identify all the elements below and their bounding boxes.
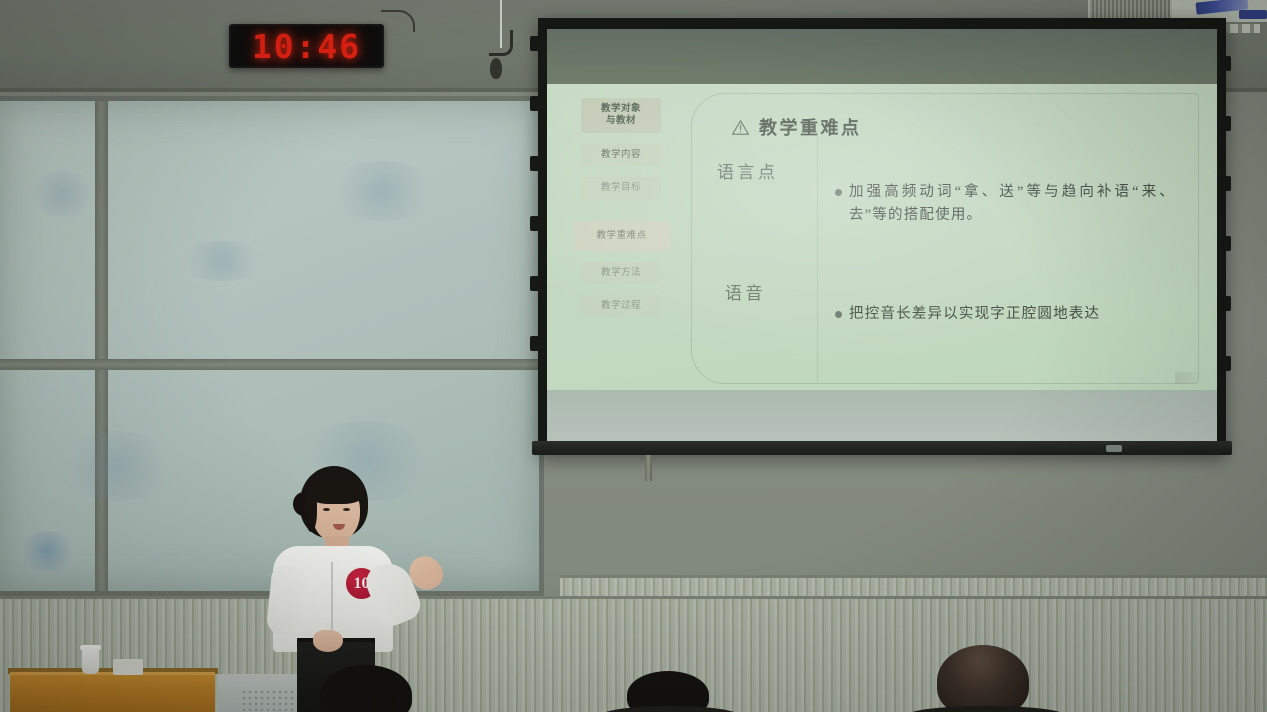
slide-nav-item-1[interactable]: 教学内容	[581, 144, 661, 166]
warning-triangle-icon	[731, 118, 750, 137]
screen-hook-right-1	[1222, 56, 1231, 71]
pull-cord-weight	[490, 58, 502, 79]
slide-bullet-0-text: 加强高频动词“拿、送”等与趋向补语“来、去”等的搭配使用。	[849, 181, 1175, 228]
bullet-dot-icon	[835, 189, 842, 196]
slide-title: 教学重难点	[731, 114, 862, 140]
screen-hook-left-6	[530, 336, 539, 351]
screen-hook-right-6	[1222, 356, 1231, 371]
slide-title-text: 教学重难点	[759, 114, 862, 140]
clock-time-display: 10:46	[252, 27, 361, 66]
presenter-hair-side	[305, 492, 317, 532]
screen-hook-right-2	[1222, 116, 1231, 131]
slide-nav-item-4[interactable]: 教学方法	[581, 262, 661, 284]
bullet-dot-icon	[835, 311, 842, 318]
audience-head-right	[937, 645, 1029, 712]
audience-head-left-bun	[372, 690, 398, 712]
screen-hook-left-3	[530, 156, 539, 171]
slide-nav-item-0-line2: 与教材	[583, 115, 659, 127]
screen-lower-blank	[547, 390, 1217, 446]
slide-nav: 教学对象 与教材 教学内容 教学目标 教学重难点 教学方法 教学过程	[581, 98, 661, 328]
screen-hook-right-4	[1222, 236, 1231, 251]
screen-hook-left-4	[530, 216, 539, 231]
screen-hook-right-5	[1222, 296, 1231, 311]
slide-nav-item-3[interactable]: 教学重难点	[573, 221, 670, 251]
slide-nav-item-0[interactable]: 教学对象 与教材	[581, 98, 661, 133]
pull-cord-hook	[489, 30, 513, 56]
screen-top-band	[547, 29, 1217, 84]
screen-hook-right-3	[1222, 176, 1231, 191]
wooden-podium	[10, 672, 215, 712]
slide-nav-item-0-line1: 教学对象	[583, 103, 659, 115]
slide-bullet-1: 把控音长差异以实现字正腔圆地表达	[835, 303, 1185, 326]
slide-nav-item-5[interactable]: 教学过程	[581, 295, 661, 317]
slide-bullet-1-text: 把控音长差异以实现字正腔圆地表达	[849, 303, 1100, 326]
presenter-collar-left	[313, 548, 330, 572]
screen-support-pole	[645, 455, 652, 481]
paper-cup	[82, 648, 99, 674]
presentation-slide: 教学对象 与教材 教学内容 教学目标 教学重难点 教学方法 教学过程	[547, 84, 1217, 390]
presenter-left-hand	[313, 630, 343, 652]
screen-roller-knob	[1106, 445, 1122, 452]
slide-column-divider	[817, 136, 818, 382]
classroom-scene: 10:46 教学对象 与教材 教学内容 教学目标	[0, 0, 1267, 712]
screen-surface: 教学对象 与教材 教学内容 教学目标 教学重难点 教学方法 教学过程	[547, 29, 1217, 446]
section-label-1: 语音	[725, 279, 766, 304]
slide-corner-mark	[1175, 372, 1201, 384]
wall-clock: 10:46	[229, 24, 384, 68]
tissue-box	[113, 659, 143, 675]
screen-hook-left-5	[530, 276, 539, 291]
screen-roller-bar	[532, 441, 1232, 455]
screen-hook-left-1	[530, 36, 539, 51]
blue-equipment-secondary	[1239, 10, 1267, 19]
screen-hook-left-2	[530, 96, 539, 111]
slide-bullet-0: 加强高频动词“拿、送”等与趋向补语“来、去”等的搭配使用。	[835, 181, 1175, 228]
projection-screen: 教学对象 与教材 教学内容 教学目标 教学重难点 教学方法 教学过程	[538, 18, 1226, 455]
slide-nav-item-2[interactable]: 教学目标	[581, 177, 661, 199]
clock-cable	[381, 10, 415, 32]
section-label-0: 语言点	[717, 158, 779, 183]
